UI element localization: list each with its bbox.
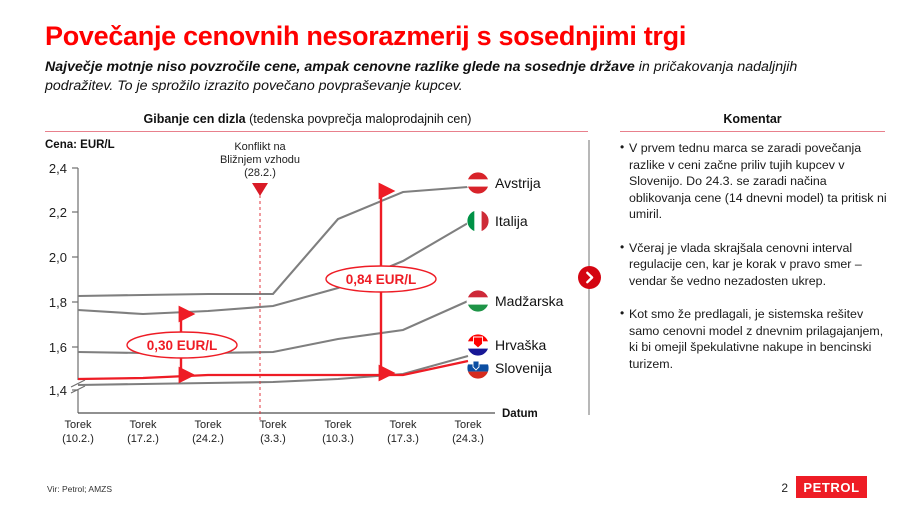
page-subtitle: Največje motnje niso povzročile cene, am… (45, 58, 865, 96)
legend-label-avstrija: Avstrija (495, 175, 541, 191)
delta-label-030: 0,30 EUR/L (147, 338, 218, 353)
x-tick-sublabel: (3.3.) (260, 433, 286, 445)
legend-label-hrvaska: Hrvaška (495, 337, 547, 353)
chart-panel-header-rest: (tedenska povprečja maloprodajnih cen) (246, 112, 472, 126)
komentar-item-text: V prvem tednu marca se zaradi povečanja … (629, 140, 888, 223)
down-triangle-icon (252, 183, 268, 196)
y-tick-label: 2,0 (49, 250, 67, 265)
list-item: • Kot smo že predlagali, je sistemska re… (620, 306, 888, 372)
petrol-logo: PETROL (796, 476, 867, 498)
komentar-header-divider (620, 131, 885, 132)
flag-austria-icon (467, 172, 489, 194)
series-line-hrvaska (78, 356, 468, 385)
x-axis-tick-labels: Torek (10.2.) Torek (17.2.) Torek (24.2.… (62, 419, 484, 445)
komentar-item-text: Kot smo že predlagali, je sistemska reši… (629, 306, 888, 372)
y-tick-label: 2,4 (49, 161, 67, 176)
page-title: Povečanje cenovnih nesorazmerij s sosedn… (45, 22, 875, 50)
chart-panel-header-bold: Gibanje cen dizla (144, 112, 246, 126)
x-tick-label: Torek (130, 419, 157, 431)
x-tick-sublabel: (17.2.) (127, 433, 159, 445)
flag-slovenia-icon (467, 357, 489, 379)
x-axis-title: Datum (502, 408, 538, 420)
x-tick-label: Torek (195, 419, 222, 431)
komentar-list: • V prvem tednu marca se zaradi povečanj… (620, 140, 888, 389)
x-tick-sublabel: (24.3.) (452, 433, 484, 445)
event-label-line2: Bližnjem vzhodu (220, 154, 300, 166)
y-tick-label: 1,6 (49, 340, 67, 355)
x-tick-label: Torek (390, 419, 417, 431)
x-tick-sublabel: (17.3.) (387, 433, 419, 445)
series-line-slovenija (78, 361, 468, 379)
y-axis-ticks (72, 168, 78, 390)
x-tick-sublabel: (24.2.) (192, 433, 224, 445)
bullet-icon: • (620, 240, 629, 290)
x-tick-label: Torek (65, 419, 92, 431)
legend-item-hrvaska: Hrvaška (467, 334, 547, 356)
chart-svg: 2,4 2,2 2,0 1,8 1,6 1,4 Datum Torek (10.… (0, 131, 600, 461)
event-label-line3: (28.2.) (244, 167, 276, 179)
list-item: • V prvem tednu marca se zaradi povečanj… (620, 140, 888, 223)
komentar-panel-header: Komentar (620, 112, 885, 126)
legend-item-madzarska: Madžarska (467, 290, 564, 312)
chevron-right-icon[interactable] (578, 266, 601, 289)
y-tick-label: 1,8 (49, 295, 67, 310)
delta-annotation-030: 0,30 EUR/L (127, 314, 237, 375)
legend-item-slovenija: Slovenija (467, 357, 552, 379)
y-tick-label: 2,2 (49, 205, 67, 220)
source-note: Vir: Petrol; AMZS (47, 484, 112, 494)
legend-label-slovenija: Slovenija (495, 360, 552, 376)
list-item: • Včeraj je vlada skrajšala cenovni inte… (620, 240, 888, 290)
y-tick-label: 1,4 (49, 383, 67, 398)
legend-label-madzarska: Madžarska (495, 293, 564, 309)
bullet-icon: • (620, 140, 629, 223)
page-number: 2 (781, 481, 788, 495)
x-tick-label: Torek (455, 419, 482, 431)
flag-italy-icon (467, 210, 489, 232)
flag-hungary-icon (467, 290, 489, 312)
x-tick-sublabel: (10.3.) (322, 433, 354, 445)
legend-item-italija: Italija (467, 210, 528, 232)
event-annotation-konflikt: Konflikt na Bližnjem vzhodu (28.2.) (220, 141, 300, 421)
legend-item-avstrija: Avstrija (467, 172, 541, 194)
chart-panel-header: Gibanje cen dizla (tedenska povprečja ma… (45, 112, 570, 126)
x-tick-label: Torek (260, 419, 287, 431)
delta-annotation-084: 0,84 EUR/L (326, 191, 436, 373)
flag-croatia-icon (467, 334, 489, 356)
event-label-line1: Konflikt na (234, 141, 286, 153)
bullet-icon: • (620, 306, 629, 372)
y-axis-tick-labels: 2,4 2,2 2,0 1,8 1,6 1,4 (49, 161, 67, 398)
legend-label-italija: Italija (495, 213, 528, 229)
x-tick-label: Torek (325, 419, 352, 431)
subtitle-emphasis: Največje motnje niso povzročile cene, am… (45, 59, 635, 75)
komentar-item-text: Včeraj je vlada skrajšala cenovni interv… (629, 240, 888, 290)
price-trend-chart: Cena: EUR/L 2,4 2,2 2,0 1,8 1,6 1,4 (0, 131, 600, 461)
x-tick-sublabel: (10.2.) (62, 433, 94, 445)
delta-label-084: 0,84 EUR/L (346, 272, 417, 287)
